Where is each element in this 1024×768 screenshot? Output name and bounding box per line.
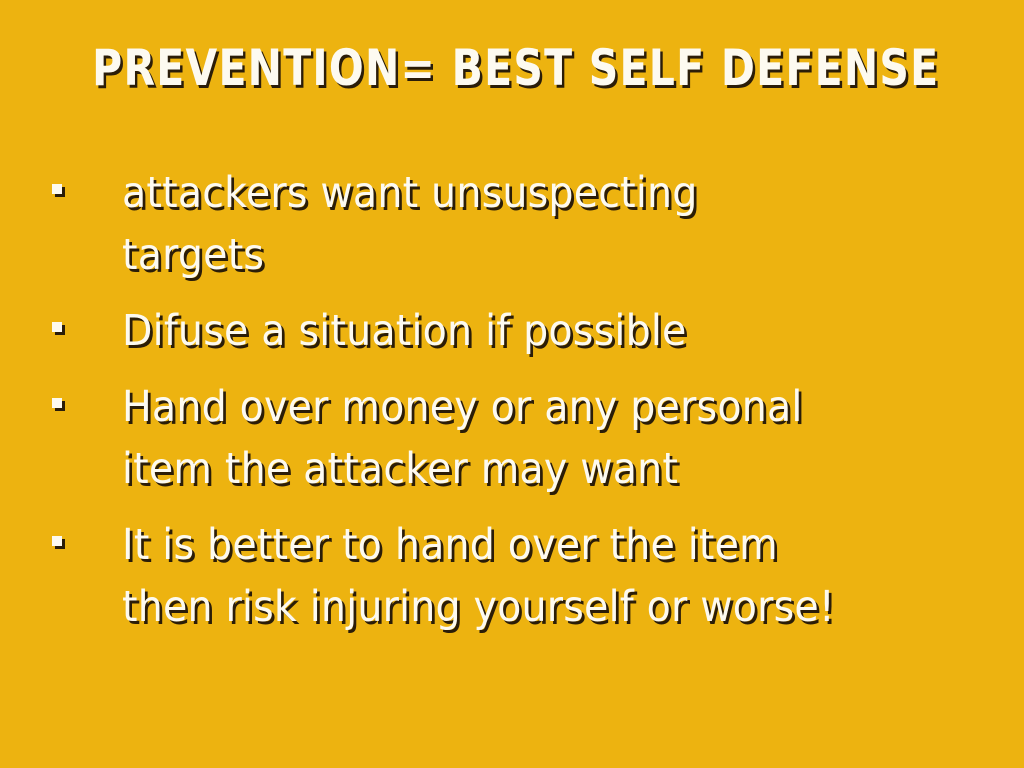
slide-title: PREVENTION= BEST SELF DEFENSE	[92, 42, 932, 95]
bullet-text: Difuse a situation if possible	[122, 300, 913, 362]
bullet-text: It is better to hand over the item then …	[122, 514, 913, 638]
square-bullet-icon	[52, 398, 62, 408]
bullet-list: attackers want unsuspecting targets Difu…	[52, 162, 982, 652]
list-item: Hand over money or any personal item the…	[52, 376, 982, 500]
list-item: attackers want unsuspecting targets	[52, 162, 982, 286]
square-bullet-icon	[52, 536, 62, 546]
square-bullet-icon	[52, 322, 62, 332]
bullet-text: Hand over money or any personal item the…	[122, 376, 913, 500]
bullet-text: attackers want unsuspecting targets	[122, 162, 913, 286]
list-item: It is better to hand over the item then …	[52, 514, 982, 638]
list-item: Difuse a situation if possible	[52, 300, 982, 362]
square-bullet-icon	[52, 184, 62, 194]
presentation-slide: PREVENTION= BEST SELF DEFENSE attackers …	[0, 0, 1024, 768]
